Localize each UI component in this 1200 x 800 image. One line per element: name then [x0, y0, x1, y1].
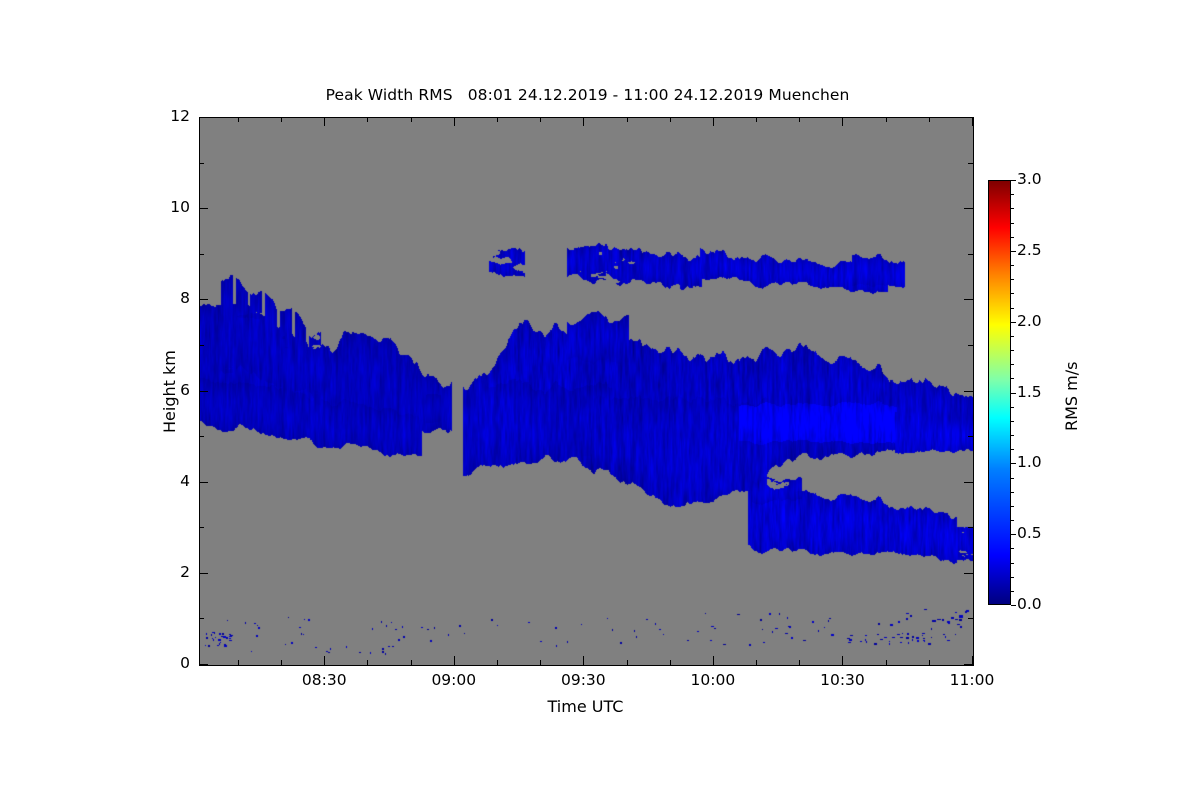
- x-axis-title: Time UTC: [199, 697, 972, 716]
- x-tick-top: [670, 117, 671, 122]
- x-tick: [842, 656, 843, 665]
- x-tick: [799, 660, 800, 665]
- y-tick-label: 2: [150, 565, 190, 580]
- y-tick-label: 4: [150, 474, 190, 489]
- colorbar-tick-label: 3.0: [1017, 172, 1042, 187]
- y-tick-right: [964, 208, 973, 209]
- colorbar-gradient: [988, 180, 1011, 605]
- y-tick-right: [968, 618, 973, 619]
- x-tick-top: [324, 117, 325, 126]
- colorbar-tick-label: 2.5: [1017, 243, 1042, 258]
- x-tick-label: 10:00: [678, 672, 748, 688]
- colorbar-tick: [1011, 577, 1014, 578]
- colorbar-tick: [1011, 208, 1014, 209]
- colorbar-title: RMS m/s: [1062, 361, 1081, 430]
- y-tick-right: [968, 527, 973, 528]
- x-tick-top: [454, 117, 455, 126]
- y-tick-label: 10: [150, 200, 190, 215]
- colorbar-tick: [1011, 463, 1016, 464]
- x-tick-top: [411, 117, 412, 122]
- y-tick: [199, 163, 204, 164]
- x-tick: [454, 656, 455, 665]
- colorbar-tick: [1011, 421, 1014, 422]
- x-tick-top: [540, 117, 541, 122]
- x-tick-label: 09:00: [419, 672, 489, 688]
- colorbar-tick: [1011, 308, 1014, 309]
- x-tick-top: [281, 117, 282, 122]
- y-tick: [199, 117, 208, 118]
- colorbar[interactable]: [988, 180, 1011, 605]
- x-tick-top: [497, 117, 498, 122]
- colorbar-tick: [1011, 350, 1014, 351]
- y-tick-right: [968, 345, 973, 346]
- colorbar-tick: [1011, 449, 1014, 450]
- heatmap-canvas: [200, 118, 973, 665]
- colorbar-tick: [1011, 336, 1014, 337]
- y-tick-right: [968, 254, 973, 255]
- chart-title: Peak Width RMS 08:01 24.12.2019 - 11:00 …: [0, 86, 1175, 104]
- colorbar-tick: [1011, 251, 1016, 252]
- y-tick: [199, 482, 208, 483]
- x-tick-label: 09:30: [548, 672, 618, 688]
- x-tick-top: [583, 117, 584, 126]
- x-tick: [324, 656, 325, 665]
- x-tick-top: [713, 117, 714, 126]
- y-tick: [199, 573, 208, 574]
- colorbar-tick-label: 1.5: [1017, 385, 1042, 400]
- y-axis-title: Height km: [160, 350, 179, 433]
- x-tick: [929, 660, 930, 665]
- colorbar-tick: [1011, 605, 1016, 606]
- colorbar-tick: [1011, 478, 1014, 479]
- y-tick-right: [964, 573, 973, 574]
- x-tick: [238, 660, 239, 665]
- y-tick-right: [964, 391, 973, 392]
- colorbar-tick: [1011, 435, 1014, 436]
- figure-canvas: Peak Width RMS 08:01 24.12.2019 - 11:00 …: [0, 0, 1200, 800]
- y-tick: [199, 618, 204, 619]
- x-tick: [972, 656, 973, 665]
- x-tick-label: 08:30: [289, 672, 359, 688]
- x-tick-top: [799, 117, 800, 122]
- y-tick: [199, 436, 204, 437]
- colorbar-tick: [1011, 378, 1014, 379]
- y-tick: [199, 208, 208, 209]
- y-tick: [199, 527, 204, 528]
- x-tick-label: 10:30: [807, 672, 877, 688]
- y-tick: [199, 391, 208, 392]
- y-tick-label: 12: [150, 109, 190, 124]
- plot-area[interactable]: [199, 117, 974, 666]
- x-tick-top: [627, 117, 628, 122]
- colorbar-tick: [1011, 520, 1014, 521]
- colorbar-tick: [1011, 393, 1016, 394]
- x-tick-top: [842, 117, 843, 126]
- x-tick: [713, 656, 714, 665]
- y-tick: [199, 664, 208, 665]
- colorbar-tick: [1011, 407, 1014, 408]
- colorbar-tick: [1011, 548, 1014, 549]
- colorbar-tick: [1011, 194, 1014, 195]
- x-tick: [497, 660, 498, 665]
- y-tick-label: 8: [150, 291, 190, 306]
- y-tick-label: 0: [150, 656, 190, 671]
- colorbar-tick: [1011, 364, 1014, 365]
- x-tick: [756, 660, 757, 665]
- x-tick-top: [929, 117, 930, 122]
- colorbar-tick-label: 0.0: [1017, 597, 1042, 612]
- y-tick: [199, 299, 208, 300]
- colorbar-tick: [1011, 293, 1014, 294]
- colorbar-tick: [1011, 223, 1014, 224]
- y-tick-right: [964, 299, 973, 300]
- colorbar-tick: [1011, 563, 1014, 564]
- colorbar-tick: [1011, 534, 1016, 535]
- colorbar-tick: [1011, 265, 1014, 266]
- x-tick: [540, 660, 541, 665]
- x-tick: [583, 656, 584, 665]
- x-tick-label: 11:00: [937, 672, 1007, 688]
- colorbar-tick-label: 1.0: [1017, 455, 1042, 470]
- x-tick-top: [238, 117, 239, 122]
- colorbar-tick: [1011, 180, 1016, 181]
- colorbar-tick: [1011, 237, 1014, 238]
- x-tick: [886, 660, 887, 665]
- y-tick-right: [968, 163, 973, 164]
- x-tick: [281, 660, 282, 665]
- y-tick: [199, 345, 204, 346]
- x-tick: [367, 660, 368, 665]
- y-tick: [199, 254, 204, 255]
- colorbar-tick-label: 2.0: [1017, 314, 1042, 329]
- x-tick-top: [972, 117, 973, 126]
- x-tick: [627, 660, 628, 665]
- y-tick-right: [964, 482, 973, 483]
- y-tick-right: [968, 436, 973, 437]
- colorbar-tick: [1011, 279, 1014, 280]
- colorbar-tick: [1011, 591, 1014, 592]
- colorbar-tick: [1011, 492, 1014, 493]
- colorbar-tick: [1011, 322, 1016, 323]
- x-tick-top: [367, 117, 368, 122]
- colorbar-tick: [1011, 506, 1014, 507]
- x-tick-top: [756, 117, 757, 122]
- x-tick: [411, 660, 412, 665]
- colorbar-tick-label: 0.5: [1017, 526, 1042, 541]
- x-tick-top: [886, 117, 887, 122]
- x-tick: [670, 660, 671, 665]
